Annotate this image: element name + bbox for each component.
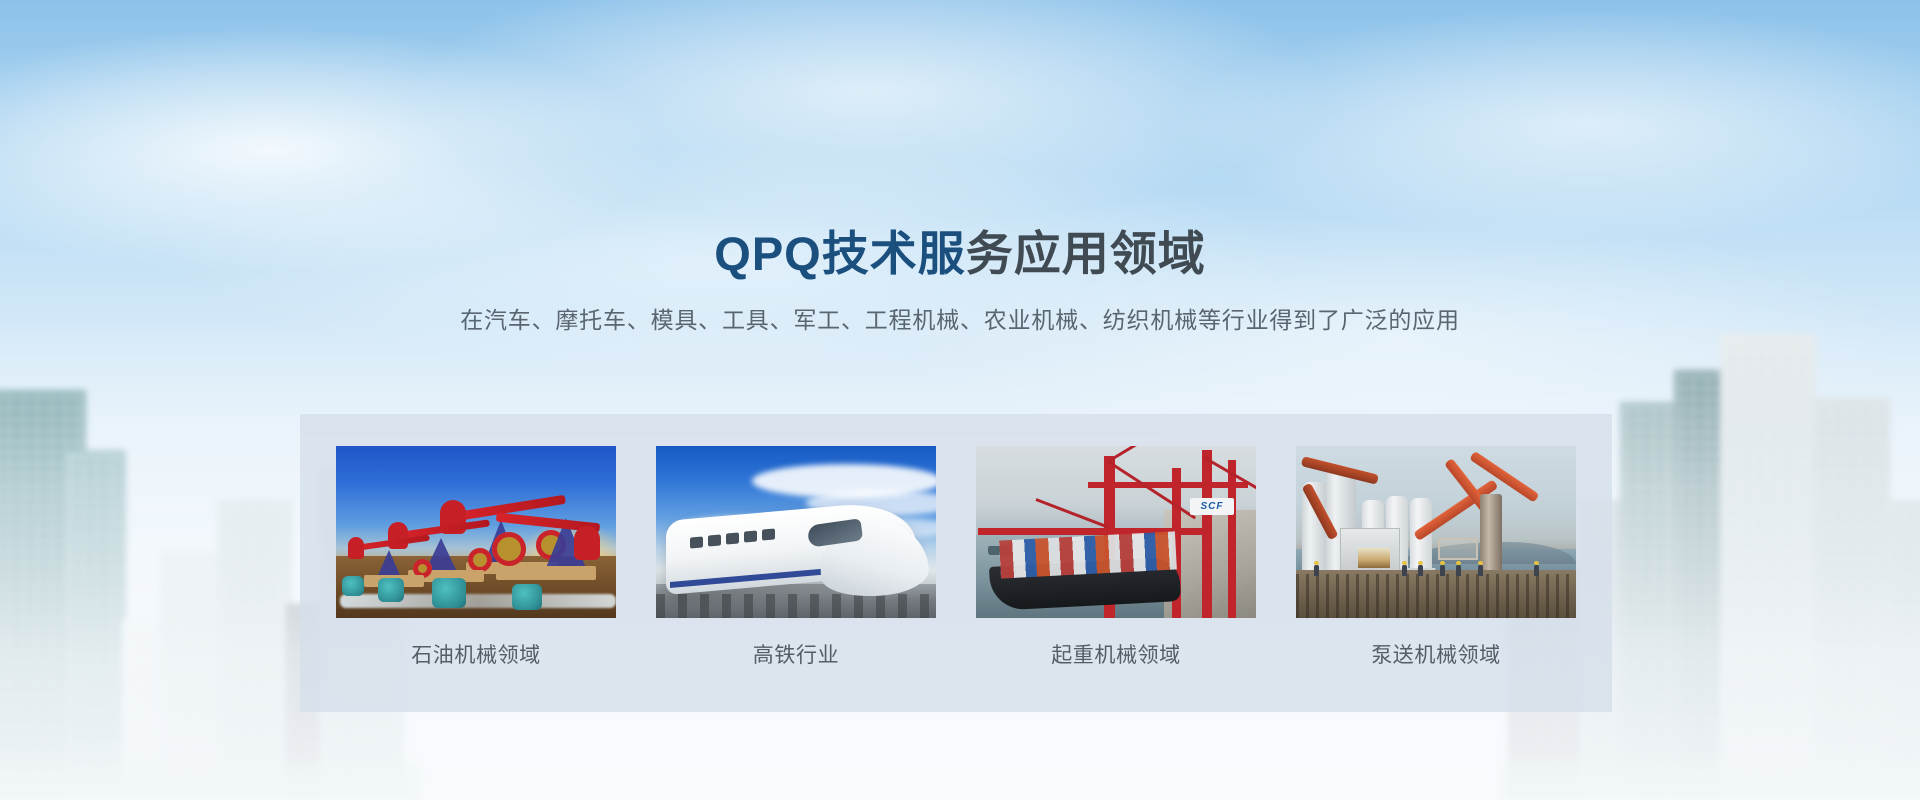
cloud-wash-2 (420, 0, 1320, 220)
pumpjack-unit (486, 500, 598, 568)
building (218, 500, 292, 800)
site-banner (1358, 548, 1390, 568)
crane-stay-cable (1107, 446, 1211, 463)
train-window (690, 536, 703, 548)
card-pumping-machinery[interactable]: 泵送机械领域 (1296, 446, 1576, 669)
wellhead-valve (342, 576, 364, 596)
card-lifting-machinery[interactable]: SCF 起重机械领域 (976, 446, 1256, 669)
construction-deck (1296, 570, 1576, 618)
operator-platform (1438, 538, 1478, 560)
hero-heading-block: QPQ技术服务应用领域 在汽车、摩托车、模具、工具、军工、工程机械、农业机械、纺… (0, 228, 1920, 336)
card-caption: 起重机械领域 (1051, 639, 1181, 669)
scf-logo: SCF (1190, 498, 1234, 515)
building (1812, 398, 1890, 800)
worker-figure (1456, 565, 1461, 576)
treeline (0, 754, 420, 800)
page-title: QPQ技术服务应用领域 (0, 228, 1920, 281)
card-caption: 石油机械领域 (411, 639, 541, 669)
high-speed-train-photo (656, 446, 936, 618)
wellhead-valve (378, 578, 404, 602)
building (64, 450, 126, 800)
card-caption: 高铁行业 (753, 639, 839, 669)
worker-figure (1418, 565, 1423, 576)
train-window (726, 532, 739, 544)
building (1674, 370, 1726, 800)
worker-figure (1440, 565, 1445, 576)
wellhead-valve (512, 584, 542, 610)
treeline (1500, 754, 1920, 800)
worker-figure (1534, 565, 1539, 576)
building (1620, 402, 1680, 800)
card-high-speed-rail[interactable]: 高铁行业 (656, 446, 936, 669)
card-oil-machinery[interactable]: 石油机械领域 (336, 446, 616, 669)
train-window (762, 528, 775, 540)
train-window (708, 534, 721, 546)
worker-figure (1314, 565, 1319, 576)
oil-pumpjack-photo (336, 446, 616, 618)
hero-banner: QPQ技术服务应用领域 在汽车、摩托车、模具、工具、军工、工程机械、农业机械、纺… (0, 0, 1920, 800)
building (122, 620, 168, 800)
cloud-wash-3 (1180, 10, 1920, 240)
pumpjack-unit (348, 528, 434, 580)
page-title-primary: QPQ技术服 (714, 227, 965, 280)
port-gantry-crane-photo: SCF (976, 446, 1256, 618)
crane-stay-cable (1035, 498, 1109, 529)
building (1720, 334, 1816, 800)
crane-stay-cable (1107, 460, 1196, 519)
building (0, 390, 86, 800)
card-caption: 泵送机械领域 (1371, 639, 1501, 669)
page-title-secondary: 务应用领域 (966, 227, 1206, 280)
worker-figure (1402, 565, 1407, 576)
building (160, 552, 226, 800)
wellhead-valve (432, 578, 466, 608)
application-fields-panel: 石油机械领域 高铁行业 (300, 414, 1612, 712)
crane-leg (1228, 460, 1236, 618)
concrete-pump-photo (1296, 446, 1576, 618)
building (1884, 500, 1920, 800)
page-subtitle: 在汽车、摩托车、模具、工具、军工、工程机械、农业机械、纺织机械等行业得到了广泛的… (0, 305, 1920, 336)
train-window (744, 530, 757, 542)
worker-figure (1478, 565, 1483, 576)
crane-leg (1202, 450, 1212, 618)
